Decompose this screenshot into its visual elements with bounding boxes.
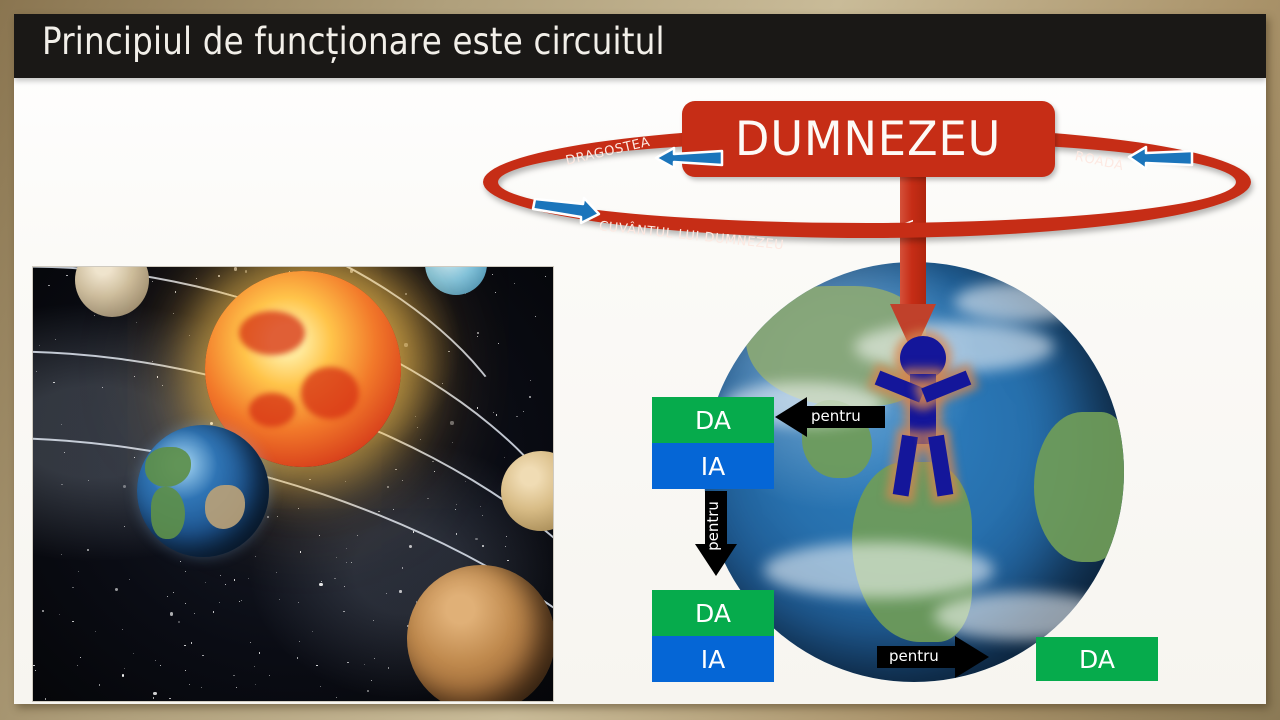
person-leg-right [928,435,953,497]
choice-da-1[interactable]: DA [652,397,774,443]
pentru-label-left: pentru [811,407,861,425]
star [535,316,536,317]
choice-ia-1[interactable]: IA [652,443,774,489]
arrow-cuvantul-icon [527,195,605,225]
title-bar: Principiul de funcționare este circuitul [14,14,1266,78]
arrow-dragostea-icon [650,144,726,172]
dumnezeu-box: DUMNEZEU [682,101,1055,177]
pentru-arrow-left: pentru [775,395,885,439]
star [492,274,493,275]
choice-block-2: DA IA [652,590,774,682]
continent-africa-edge [1034,412,1124,562]
star [523,411,524,412]
pentru-label-right: pentru [889,647,939,665]
final-da-box[interactable]: DA [1036,637,1158,681]
star [530,380,531,381]
planet-earth-small [137,425,269,557]
pentru-label-down: pentru [704,501,722,551]
choice-block-1: DA IA [652,397,774,489]
page-title: Principiul de funcționare este circuitul [42,20,665,63]
space-illustration [32,266,554,702]
pentru-arrow-right: pentru [877,634,989,680]
slide-frame: Principiul de funcționare este circuitul [0,0,1280,720]
pentru-arrow-down: pentru [693,491,739,576]
choice-ia-2[interactable]: IA [652,636,774,682]
dumnezeu-label: DUMNEZEU [735,112,1001,167]
arrow-roada-icon [1124,144,1196,172]
planet-mars [407,565,554,702]
person-leg-left [893,435,918,497]
star [545,276,546,277]
star [529,396,531,398]
star [514,283,515,284]
slide-canvas: Principiul de funcționare este circuitul [14,14,1266,704]
person-figure [876,336,968,496]
choice-da-2[interactable]: DA [652,590,774,636]
